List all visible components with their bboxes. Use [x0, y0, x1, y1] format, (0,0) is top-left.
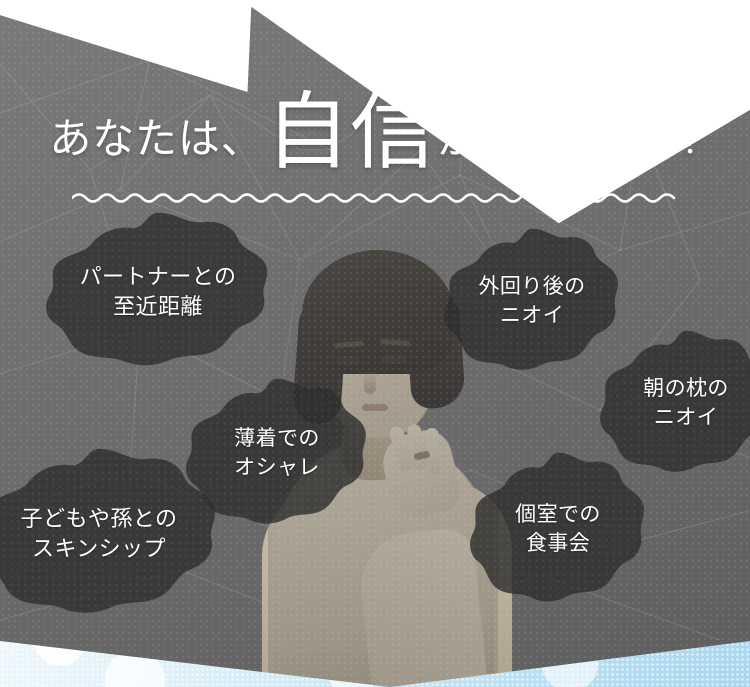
badge-text: 子どもや孫との スキンシップ — [15, 504, 184, 565]
badge-line-1: パートナーとの — [80, 262, 237, 292]
badge-line-2: スキンシップ — [21, 534, 178, 564]
badge-partner: パートナーとの 至近距離 — [46, 212, 270, 372]
badge-line-2: ニオイ — [643, 404, 729, 433]
badge-line-1: 個室での — [515, 501, 601, 530]
page-title: あなたは、自信がありますか? — [0, 96, 750, 172]
badge-line-1: 外回り後の — [478, 273, 585, 302]
badge-line-1: 子どもや孫との — [21, 504, 178, 534]
badge-line-1: 朝の枕の — [643, 375, 729, 404]
hero-banner: あなたは、自信がありますか? パートナーとの 至近距離 外回り後の ニオイ — [0, 0, 750, 687]
headline-emphasis: 自信 — [266, 87, 436, 180]
badge-text: 朝の枕の ニオイ — [637, 375, 735, 433]
badge-line-2: 食事会 — [515, 530, 601, 559]
badge-text: 外回り後の ニオイ — [472, 273, 591, 331]
badge-line-1: 薄着での — [234, 425, 320, 454]
wavy-underline-icon — [72, 188, 680, 208]
headline-prefix: あなたは、 — [49, 117, 263, 163]
badge-line-2: 至近距離 — [80, 292, 237, 322]
badge-text: 薄着での オシャレ — [228, 425, 326, 483]
badge-line-2: ニオイ — [478, 302, 585, 331]
badge-dining: 個室での 食事会 — [470, 452, 646, 608]
badge-kids: 子どもや孫との スキンシップ — [0, 448, 218, 620]
badge-outdoor: 外回り後の ニオイ — [444, 228, 620, 376]
badge-text: パートナーとの 至近距離 — [74, 262, 243, 323]
badge-text: 個室での 食事会 — [509, 501, 607, 559]
headline-suffix: がありますか? — [437, 117, 700, 162]
photo-panel: あなたは、自信がありますか? パートナーとの 至近距離 外回り後の ニオイ — [0, 0, 750, 687]
badge-line-2: オシャレ — [234, 454, 320, 483]
